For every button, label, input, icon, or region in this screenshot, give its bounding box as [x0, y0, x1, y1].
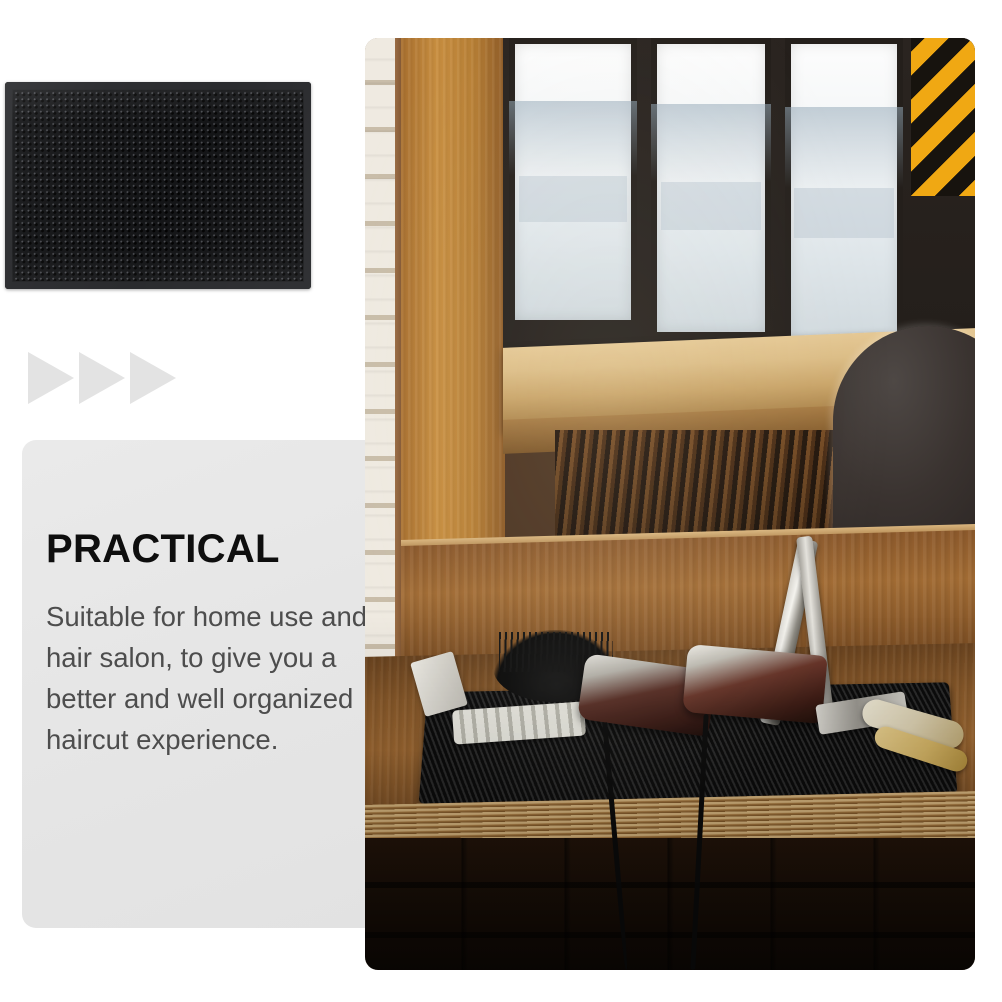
window-pane [509, 38, 637, 326]
window-pane [785, 38, 903, 350]
lifestyle-photo [365, 38, 975, 970]
chevron-right-icon [28, 352, 74, 404]
hair-clipper [682, 644, 827, 724]
chevron-right-icon [79, 352, 125, 404]
product-mat-image [5, 82, 311, 289]
chevron-arrows [28, 352, 179, 404]
hazard-stripe-panel [911, 38, 975, 196]
pane-reflection [785, 107, 903, 188]
feature-title: PRACTICAL [46, 528, 388, 570]
pane-reflection [661, 182, 762, 230]
pane-reflection [651, 104, 771, 182]
pane-reflection [519, 176, 627, 222]
mat-border-frame [5, 82, 311, 289]
pane-reflection [794, 188, 893, 238]
wood-column [401, 38, 505, 598]
feature-description: Suitable for home use and hair salon, to… [46, 596, 376, 760]
under-counter-brick [365, 838, 975, 970]
product-marketing-image: PRACTICAL Suitable for home use and hair… [0, 0, 1002, 1002]
window-pane [651, 38, 771, 338]
chevron-right-icon [130, 352, 176, 404]
pane-reflection [509, 101, 637, 176]
